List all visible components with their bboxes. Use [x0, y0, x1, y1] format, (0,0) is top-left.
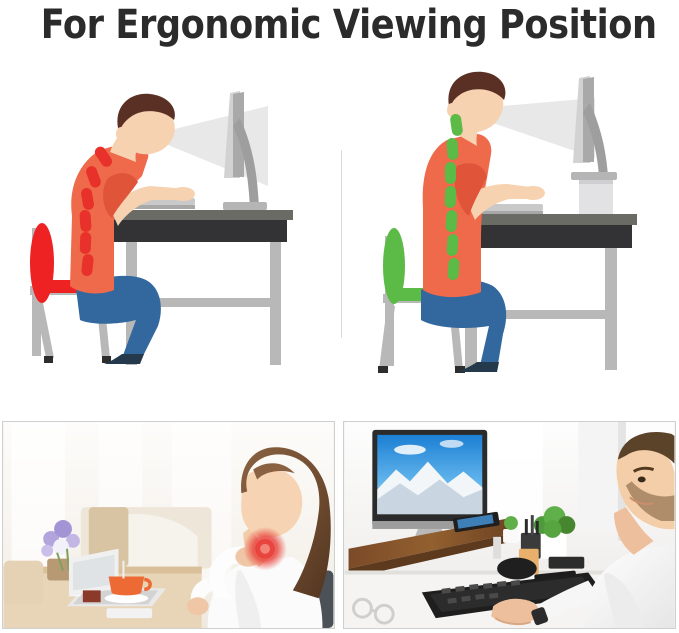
illustration-before-use: [18, 58, 348, 388]
photo-ergonomic-setup: [343, 421, 676, 629]
smartphone: [107, 608, 153, 618]
comparison-illustrations: Before use After use: [0, 58, 679, 418]
mouse: [497, 558, 537, 580]
photo-band: [0, 421, 679, 633]
monitor-after: [571, 76, 617, 180]
desk-top: [108, 210, 293, 220]
desk-apron: [111, 220, 287, 242]
small-plant: [503, 516, 519, 543]
monitor-riser: [579, 180, 613, 214]
illustration-after-use: [347, 58, 677, 388]
photo-neck-pain: [2, 421, 335, 629]
infographic-page: For Ergonomic Viewing Position: [0, 0, 679, 633]
calculator: [549, 557, 585, 569]
page-title: For Ergonomic Viewing Position: [41, 0, 639, 52]
